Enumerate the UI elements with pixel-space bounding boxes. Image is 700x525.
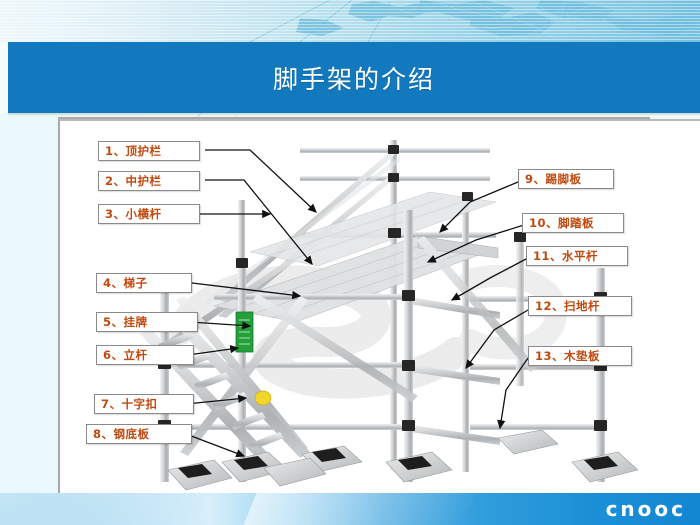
cnooc-logo: cnooc [606,497,686,521]
footer-bar: cnooc [0,493,700,525]
callout-label-2[interactable]: 2、中护栏 [98,171,200,191]
slide-title-bar: 脚手架的介绍 [8,42,700,113]
title-bar-shadow [8,113,700,116]
callout-label-7[interactable]: 7、十字扣 [94,394,194,414]
callout-label-4[interactable]: 4、梯子 [96,273,192,293]
callout-label-6[interactable]: 6、立杆 [96,345,194,365]
slide-canvas: 脚手架的介绍 [0,0,700,525]
footer-highlight [239,493,480,525]
callout-label-13[interactable]: 13、木垫板 [528,346,632,366]
callout-label-11[interactable]: 11、水平杆 [526,246,628,266]
title-left-strip [0,42,8,113]
header-decoration-band [0,0,700,42]
callout-label-3[interactable]: 3、小横杆 [98,204,200,224]
callout-label-10[interactable]: 10、脚踏板 [522,213,624,233]
callout-label-5[interactable]: 5、挂牌 [96,312,198,332]
scanline-overlay [0,0,700,42]
callout-label-12[interactable]: 12、扫地杆 [528,296,632,316]
callout-label-1[interactable]: 1、顶护栏 [98,141,200,161]
page-title: 脚手架的介绍 [8,60,700,96]
callout-label-9[interactable]: 9、踢脚板 [518,169,614,189]
callout-label-8[interactable]: 8、钢底板 [86,424,192,444]
